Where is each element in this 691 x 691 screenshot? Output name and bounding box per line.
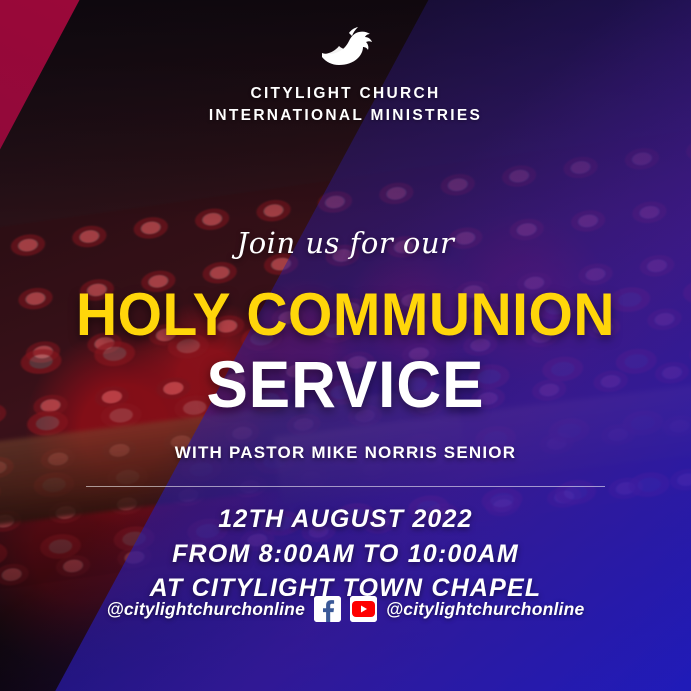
poster-content: CITYLIGHT CHURCH INTERNATIONAL MINISTRIE…: [0, 0, 691, 691]
event-details: 12TH AUGUST 2022 FROM 8:00AM TO 10:00AM …: [0, 502, 691, 606]
facebook-glyph-icon: [314, 596, 341, 622]
social-bar: @citylightchurchonline @citylightchurcho…: [0, 596, 691, 622]
dove-logo: [0, 22, 691, 66]
event-time: FROM 8:00AM TO 10:00AM: [0, 537, 691, 572]
church-name: CITYLIGHT CHURCH INTERNATIONAL MINISTRIE…: [0, 83, 691, 128]
facebook-icon[interactable]: [314, 596, 341, 622]
poster-canvas: CITYLIGHT CHURCH INTERNATIONAL MINISTRIE…: [0, 0, 691, 691]
social-handle-right: @citylightchurchonline: [386, 599, 584, 620]
church-name-line-1: CITYLIGHT CHURCH: [0, 83, 691, 105]
horizontal-divider: [86, 486, 605, 487]
headline-text: HOLY COMMUNION: [0, 280, 691, 350]
event-date: 12TH AUGUST 2022: [0, 502, 691, 537]
social-handle-left: @citylightchurchonline: [107, 599, 305, 620]
dove-icon: [315, 22, 377, 66]
invite-script-text: Join us for our: [0, 226, 691, 260]
church-name-line-2: INTERNATIONAL MINISTRIES: [0, 105, 691, 127]
subhead-text: SERVICE: [0, 348, 691, 423]
speaker-text: WITH PASTOR MIKE NORRIS SENIOR: [0, 443, 691, 463]
youtube-glyph-icon: [350, 596, 377, 622]
youtube-icon[interactable]: [350, 596, 377, 622]
